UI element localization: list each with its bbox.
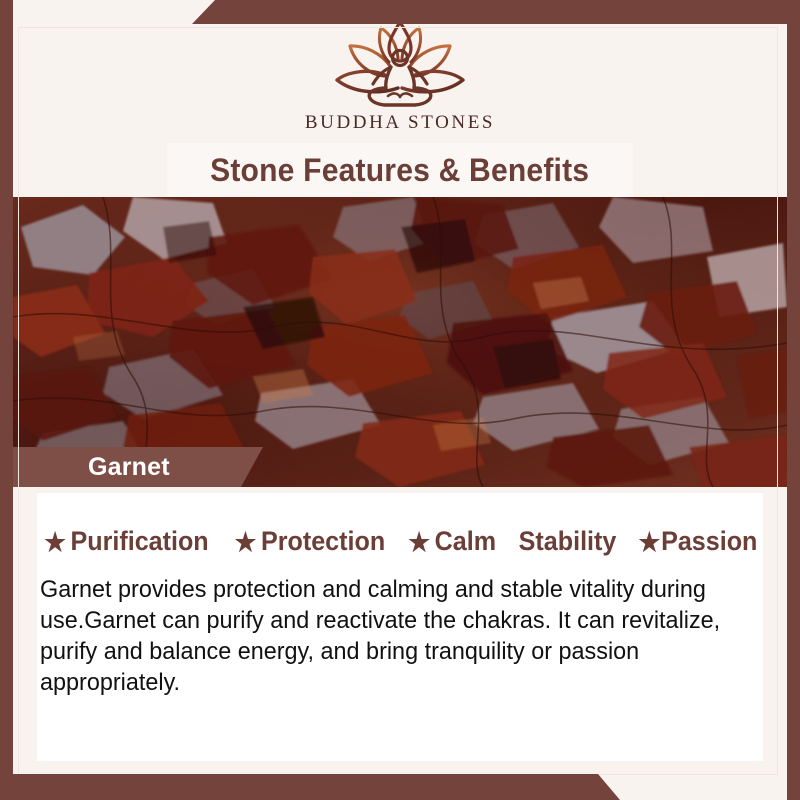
star-icon: ★ [639, 529, 661, 555]
stone-name-label: Garnet [88, 453, 170, 482]
benefit-label: Protection [261, 526, 385, 557]
product-info-poster: BUDDHA STONES Stone Features & Benefits [0, 0, 800, 800]
benefit-item-protection: ★ Protection [235, 526, 386, 557]
benefit-label: Stability [519, 526, 617, 557]
benefit-label: Purification [71, 526, 209, 557]
brand-name: BUDDHA STONES [0, 112, 800, 134]
benefit-label: Passion [661, 526, 757, 557]
lotus-meditation-icon [325, 18, 475, 110]
benefit-item-calm: ★ Calm [408, 526, 496, 557]
garnet-photo-graphic [13, 197, 787, 487]
garnet-photo [13, 197, 787, 487]
star-icon: ★ [235, 529, 257, 555]
frame-right-stripe [787, 0, 800, 800]
benefit-item-passion: ★ Passion [639, 526, 758, 557]
star-icon: ★ [408, 529, 430, 555]
benefit-label: Calm [434, 526, 495, 557]
benefit-item-stability: Stability [519, 526, 617, 557]
page-title: Stone Features & Benefits [210, 152, 589, 189]
benefits-row: ★ Purification ★ Protection ★ Calm Stabi… [37, 526, 763, 557]
benefit-item-purification: ★ Purification [44, 526, 208, 557]
stone-name-tag: Garnet [13, 447, 263, 487]
frame-left-stripe [0, 0, 13, 800]
star-icon: ★ [44, 529, 66, 555]
title-banner: Stone Features & Benefits [167, 143, 633, 197]
brand-logo-block: BUDDHA STONES [0, 18, 800, 134]
description-text: Garnet provides protection and calming a… [40, 574, 724, 698]
